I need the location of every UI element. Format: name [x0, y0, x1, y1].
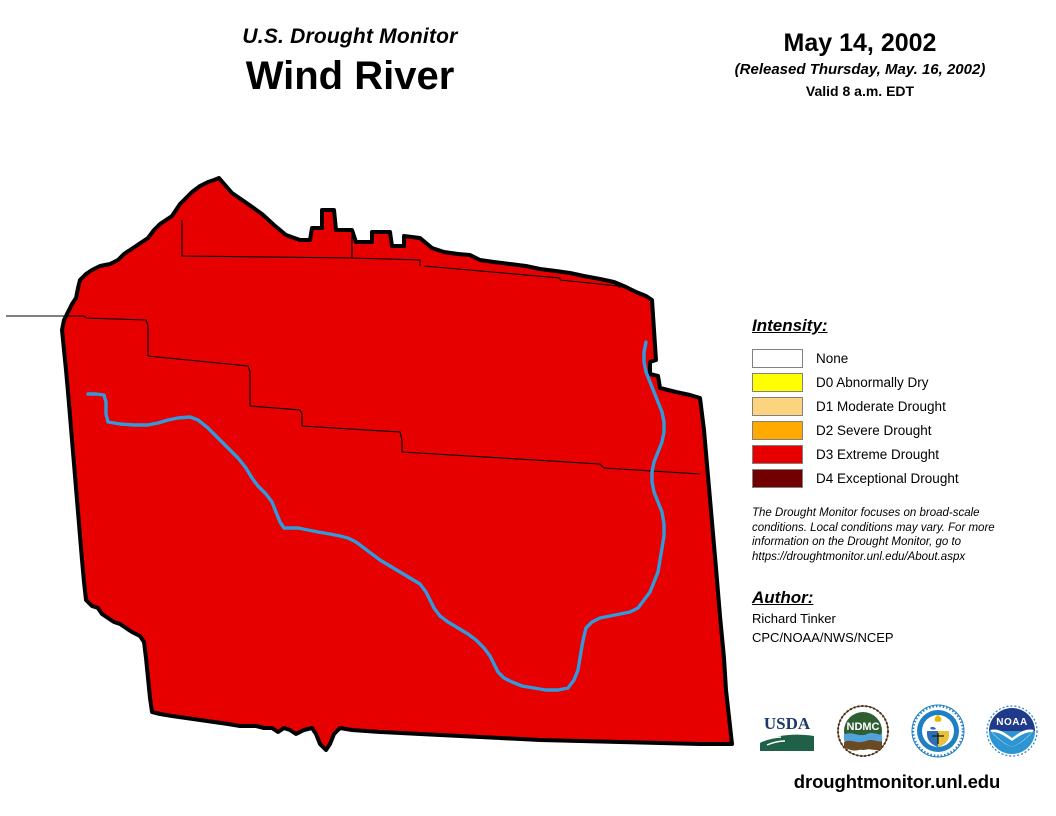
drought-map[interactable]	[0, 130, 740, 810]
usda-logo-text: USDA	[764, 714, 811, 733]
ndmc-logo[interactable]: NDMC	[837, 705, 889, 757]
legend-label-d1: D1 Moderate Drought	[816, 398, 946, 415]
legend-label-none: None	[816, 350, 848, 367]
legend-swatch-d4	[752, 469, 803, 488]
author-heading: Author:	[752, 587, 1052, 609]
valid-date: May 14, 2002	[690, 28, 1030, 58]
legend-item-d1[interactable]: D1 Moderate Drought	[752, 394, 1052, 418]
agency-logos: USDA NDMC NOAA	[758, 702, 1038, 760]
legend-label-d0: D0 Abnormally Dry	[816, 374, 929, 391]
legend-label-d2: D2 Severe Drought	[816, 422, 932, 439]
page-title: Wind River	[0, 52, 700, 100]
legend-heading: Intensity:	[752, 315, 1052, 337]
legend-swatch-none	[752, 349, 803, 368]
legend-swatch-d2	[752, 421, 803, 440]
reservation-polygon	[62, 178, 732, 750]
legend-swatch-d1	[752, 397, 803, 416]
author-affiliation: CPC/NOAA/NWS/NCEP	[752, 630, 1052, 647]
legend-label-d4: D4 Exceptional Drought	[816, 470, 959, 487]
author-name: Richard Tinker	[752, 611, 1052, 628]
release-date: (Released Thursday, May. 16, 2002)	[690, 60, 1030, 80]
noaa-logo[interactable]: NOAA	[986, 705, 1038, 757]
noaa-logo-text: NOAA	[996, 717, 1027, 728]
legend-panel: Intensity: None D0 Abnormally Dry D1 Mod…	[752, 315, 1052, 646]
map-title-block: U.S. Drought Monitor Wind River	[0, 24, 700, 100]
legend-swatch-d0	[752, 373, 803, 392]
program-title: U.S. Drought Monitor	[0, 24, 700, 50]
usda-logo[interactable]: USDA	[758, 709, 816, 753]
legend-item-d0[interactable]: D0 Abnormally Dry	[752, 370, 1052, 394]
disclaimer-text: The Drought Monitor focuses on broad-sca…	[752, 506, 1014, 564]
date-block: May 14, 2002 (Released Thursday, May. 16…	[690, 28, 1030, 101]
legend-swatch-d3	[752, 445, 803, 464]
ndmc-logo-text: NDMC	[847, 721, 880, 733]
legend-item-d4[interactable]: D4 Exceptional Drought	[752, 466, 1052, 490]
legend-label-d3: D3 Extreme Drought	[816, 446, 939, 463]
usdc-seal-logo[interactable]	[911, 704, 965, 758]
legend-item-none[interactable]: None	[752, 346, 1052, 370]
legend-item-d3[interactable]: D3 Extreme Drought	[752, 442, 1052, 466]
valid-time: Valid 8 a.m. EDT	[690, 82, 1030, 101]
legend-item-d2[interactable]: D2 Severe Drought	[752, 418, 1052, 442]
site-url[interactable]: droughtmonitor.unl.edu	[752, 770, 1042, 794]
